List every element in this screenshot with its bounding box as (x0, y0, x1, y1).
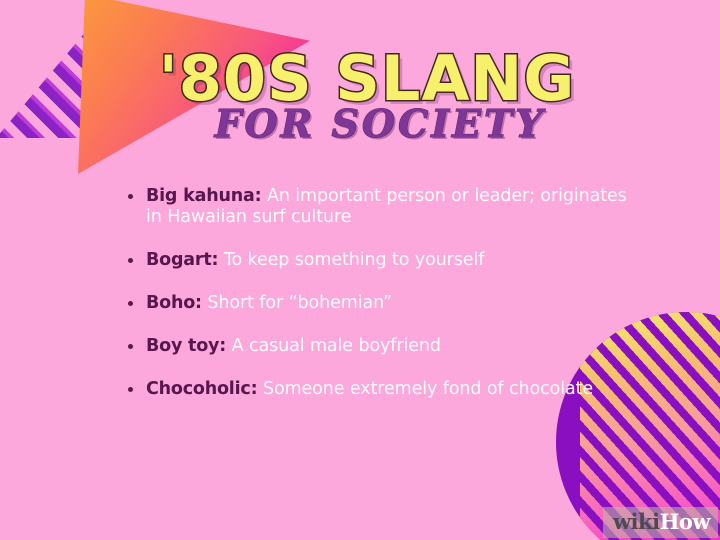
bullet-dot-icon (128, 344, 133, 349)
list-item: Bogart: To keep something to yourself (128, 250, 628, 271)
list-item: Chocoholic: Someone extremely fond of ch… (128, 379, 628, 400)
bullet-dot-icon (128, 258, 133, 263)
list-item: Big kahuna: An important person or leade… (128, 186, 628, 228)
slang-definition: Someone extremely fond of chocolate (263, 379, 593, 399)
list-item: Boy toy: A casual male boyfriend (128, 336, 628, 357)
watermark-how-text: How (660, 509, 710, 534)
slang-term: Boho: (146, 293, 202, 313)
bullet-dot-icon (128, 387, 133, 392)
slang-term-list: Big kahuna: An important person or leade… (128, 186, 628, 400)
slang-term: Boy toy: (146, 336, 226, 356)
slang-term: Chocoholic: (146, 379, 257, 399)
slang-definition: To keep something to yourself (224, 250, 484, 270)
bullet-dot-icon (128, 194, 133, 199)
page-title: '80S SLANG FOR SOCIETY (0, 48, 720, 144)
slang-infographic-card: '80S SLANG FOR SOCIETY Big kahuna: An im… (0, 0, 720, 540)
wikihow-watermark: wikiHow (603, 507, 718, 538)
watermark-wiki-text: wiki (613, 509, 660, 534)
slang-term: Bogart: (146, 250, 218, 270)
slang-term: Big kahuna: (146, 186, 261, 206)
bullet-dot-icon (128, 301, 133, 306)
slang-definition: A casual male boyfriend (232, 336, 441, 356)
slang-definition: Short for “bohemian” (207, 293, 392, 313)
title-subtitle-text: FOR SOCIETY (0, 104, 720, 144)
list-item: Boho: Short for “bohemian” (128, 293, 628, 314)
